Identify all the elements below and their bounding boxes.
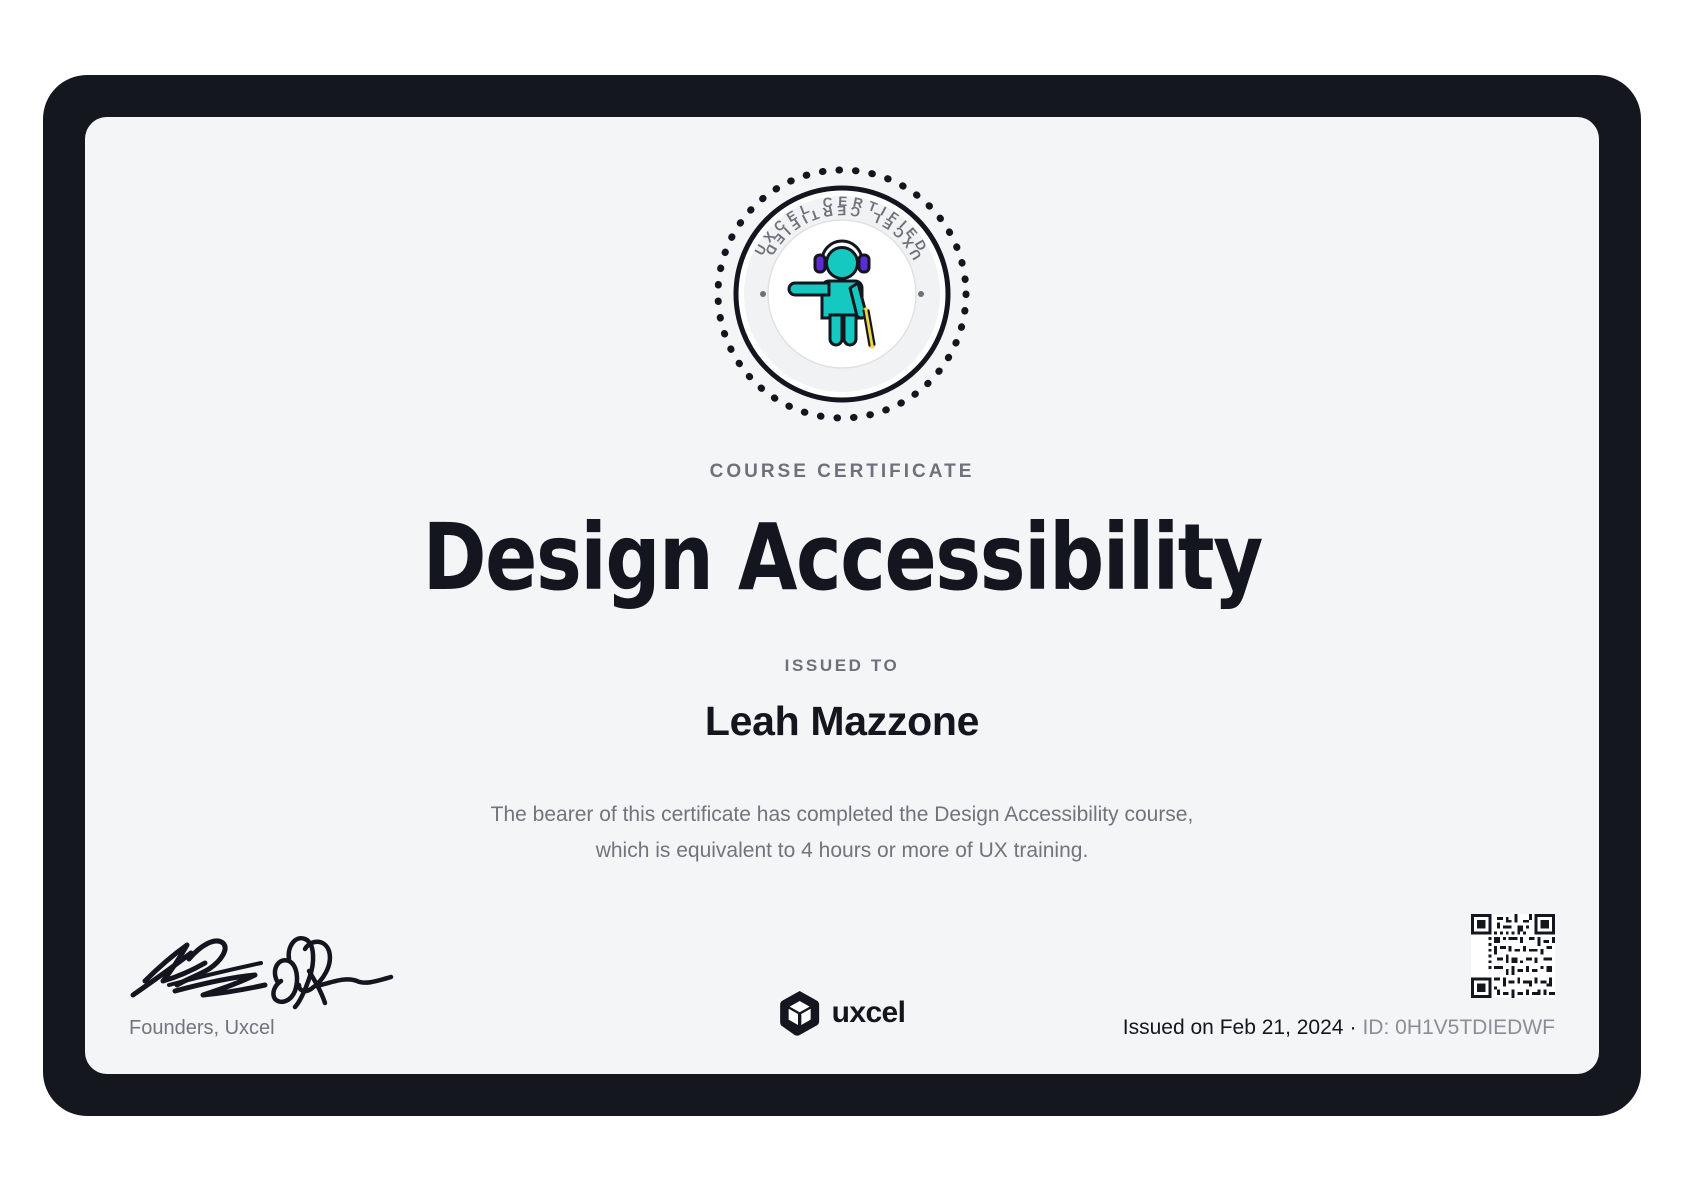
certificate-footer: Founders, Uxcel	[85, 850, 1599, 1040]
page-title: Design Accessibility	[422, 511, 1261, 605]
signature-caption: Founders, Uxcel	[129, 1017, 459, 1040]
recipient-name: Leah Mazzone	[705, 698, 979, 745]
issued-to-label: ISSUED TO	[785, 656, 900, 676]
certificate-id: ID: 0H1V5TDIEDWF	[1362, 1016, 1555, 1039]
qr-code[interactable]	[1471, 914, 1555, 998]
uxcel-cube-logo	[779, 990, 821, 1036]
uxcel-wordmark: uxcel	[832, 996, 906, 1030]
certificate-page: UXCEL CERTIFIED UXCEL CERTIFIED	[0, 0, 1684, 1190]
issued-on-date: Issued on Feb 21, 2024	[1123, 1016, 1344, 1039]
certificate-card: UXCEL CERTIFIED UXCEL CERTIFIED	[85, 117, 1599, 1074]
handwritten-signatures	[129, 919, 429, 1011]
certificate-meta: Issued on Feb 21, 2024·ID: 0H1V5TDIEDWF	[1123, 914, 1555, 1040]
signature-block: Founders, Uxcel	[129, 919, 459, 1040]
eyebrow-label: COURSE CERTIFICATE	[710, 461, 975, 483]
uxcel-certified-seal: UXCEL CERTIFIED UXCEL CERTIFIED	[713, 165, 971, 423]
uxcel-brand: uxcel	[779, 990, 906, 1036]
description-line-1: The bearer of this certificate has compl…	[491, 797, 1194, 832]
meta-separator: ·	[1343, 1016, 1362, 1039]
issue-meta-line: Issued on Feb 21, 2024·ID: 0H1V5TDIEDWF	[1123, 1016, 1555, 1040]
certificate-frame: UXCEL CERTIFIED UXCEL CERTIFIED	[43, 75, 1641, 1116]
